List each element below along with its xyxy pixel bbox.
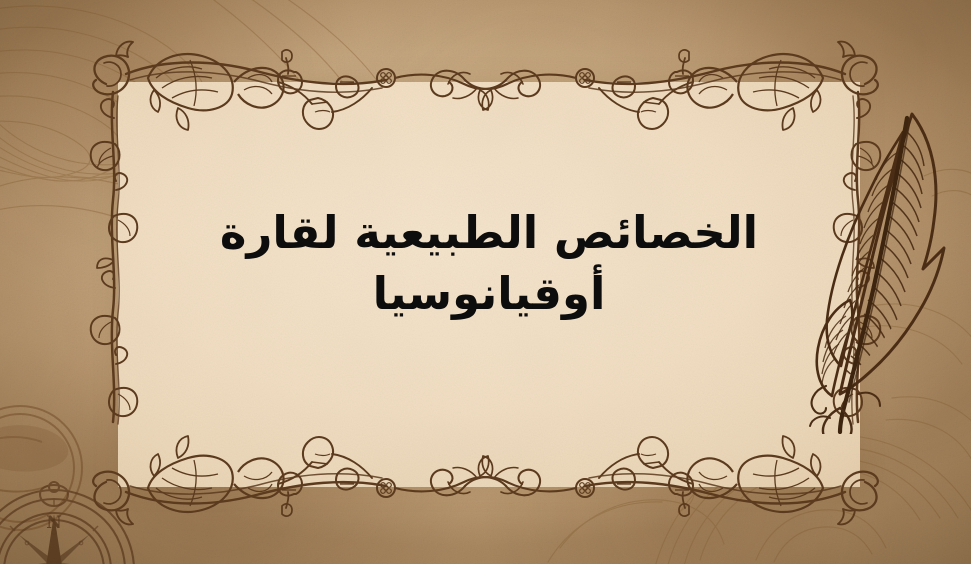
title-block: الخصائص الطبيعية لقارة أوقيانوسيا [118, 82, 860, 487]
slide-title: الخصائص الطبيعية لقارة أوقيانوسيا [209, 203, 769, 324]
title-slide: N الخصائص الطبيعية لقارة أوقيانوسيا [0, 0, 971, 564]
